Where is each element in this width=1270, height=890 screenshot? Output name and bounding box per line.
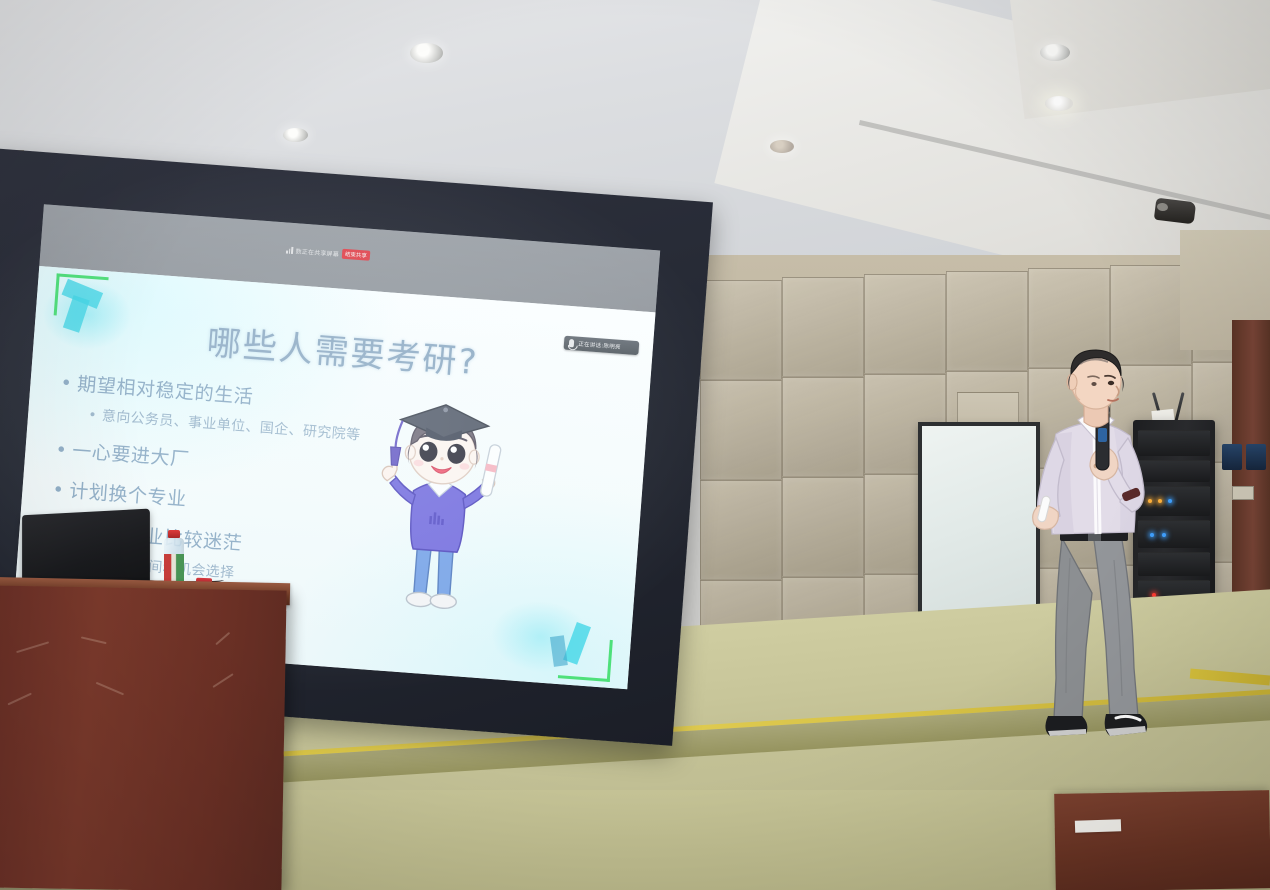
bottle-label <box>164 554 184 582</box>
stop-share-badge[interactable]: 结束共享 <box>342 249 371 261</box>
slide-bullet-text: 期望相对稳定的生活 <box>77 373 255 408</box>
bottle-cap <box>168 530 180 538</box>
acoustic-panel <box>700 380 782 480</box>
acoustic-panel <box>782 477 864 577</box>
bullet-marker-icon: • <box>60 372 73 395</box>
presenter <box>1010 348 1185 748</box>
bullet-marker-icon: • <box>52 479 65 502</box>
bullet-marker-icon: • <box>55 439 68 462</box>
acoustic-panel <box>782 277 864 377</box>
wall-switch[interactable] <box>1232 486 1254 500</box>
ceiling-downlight-icon <box>410 43 443 63</box>
bullet-marker-icon: • <box>88 407 98 424</box>
graduate-cartoon-character <box>350 379 528 630</box>
slide-bullet-text: 一心要进大厂 <box>71 440 190 471</box>
wall-control-panel[interactable] <box>1246 444 1266 470</box>
front-desk <box>1054 790 1270 890</box>
acoustic-panel <box>700 480 782 580</box>
ceiling-downlight-icon <box>283 128 308 142</box>
acoustic-panel <box>864 274 946 374</box>
ceiling-downlight-icon <box>770 140 794 153</box>
ceiling-downlight-icon <box>1045 96 1073 111</box>
ceiling-projector <box>1154 198 1196 225</box>
ceiling-downlight-icon <box>1040 44 1070 61</box>
wall-control-panel[interactable] <box>1222 444 1242 470</box>
acoustic-panel <box>700 280 782 380</box>
lectern <box>0 585 287 890</box>
slide-bullet-text: 计划换个专业 <box>68 480 187 511</box>
acoustic-panel <box>782 377 864 477</box>
signal-bars-icon <box>286 246 293 253</box>
desk-paper <box>1075 819 1121 833</box>
trousers <box>1054 538 1092 720</box>
lecture-hall-photo: 数正在共享屏幕 结束共享 正在讲话:陈明亮 哪些人需要考研? <box>0 0 1270 890</box>
